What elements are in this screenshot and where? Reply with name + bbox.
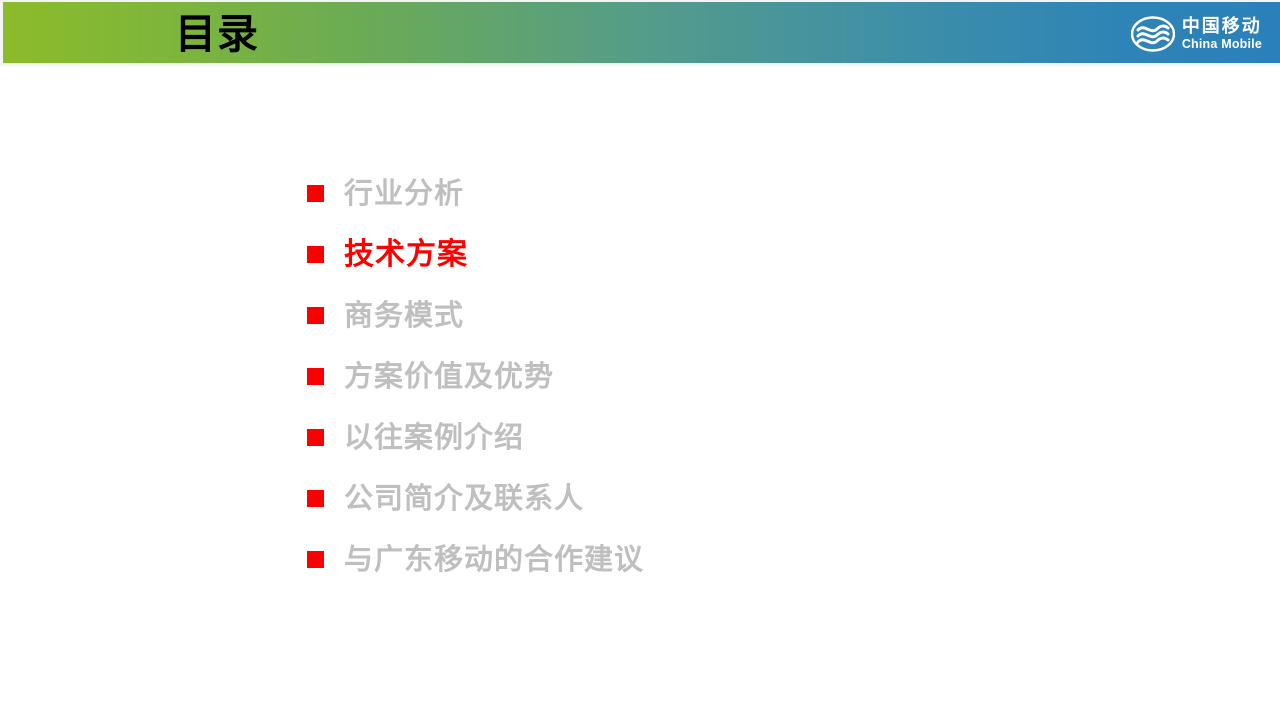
china-mobile-wave-logo-icon (1131, 16, 1175, 52)
agenda-item-label: 技术方案 (344, 238, 468, 272)
header-gradient-band: 目录 中国移动 China Mobile (3, 2, 1280, 63)
brand-lockup: 中国移动 China Mobile (1131, 13, 1262, 55)
brand-name-cn: 中国移动 (1182, 17, 1262, 35)
agenda-item-label: 以往案例介绍 (344, 421, 524, 455)
bullet-square-icon (307, 368, 324, 385)
agenda-item-7[interactable]: 与广东移动的合作建议 (307, 529, 1007, 590)
bullet-square-icon (307, 429, 324, 446)
bullet-square-icon (307, 246, 324, 263)
agenda-item-4[interactable]: 方案价值及优势 (307, 346, 1007, 407)
agenda-item-5[interactable]: 以往案例介绍 (307, 407, 1007, 468)
bullet-square-icon (307, 307, 324, 324)
agenda-item-2[interactable]: 技术方案 (307, 224, 1007, 285)
agenda-item-label: 方案价值及优势 (344, 360, 554, 394)
bullet-square-icon (307, 551, 324, 568)
bullet-square-icon (307, 490, 324, 507)
slide-header-bar: 目录 中国移动 China Mobile (0, 0, 1280, 66)
agenda-item-label: 公司简介及联系人 (344, 482, 584, 516)
brand-name-en: China Mobile (1182, 38, 1262, 51)
agenda-item-label: 商务模式 (344, 299, 464, 333)
bullet-square-icon (307, 185, 324, 202)
agenda-list: 行业分析 技术方案 商务模式 方案价值及优势 以往案例介绍 公司简介及联系人 与… (307, 163, 1007, 590)
brand-text-block: 中国移动 China Mobile (1182, 17, 1262, 51)
agenda-item-label: 行业分析 (344, 177, 464, 211)
agenda-item-6[interactable]: 公司简介及联系人 (307, 468, 1007, 529)
agenda-item-3[interactable]: 商务模式 (307, 285, 1007, 346)
page-title: 目录 (175, 10, 259, 58)
agenda-item-label: 与广东移动的合作建议 (344, 543, 644, 577)
agenda-item-1[interactable]: 行业分析 (307, 163, 1007, 224)
